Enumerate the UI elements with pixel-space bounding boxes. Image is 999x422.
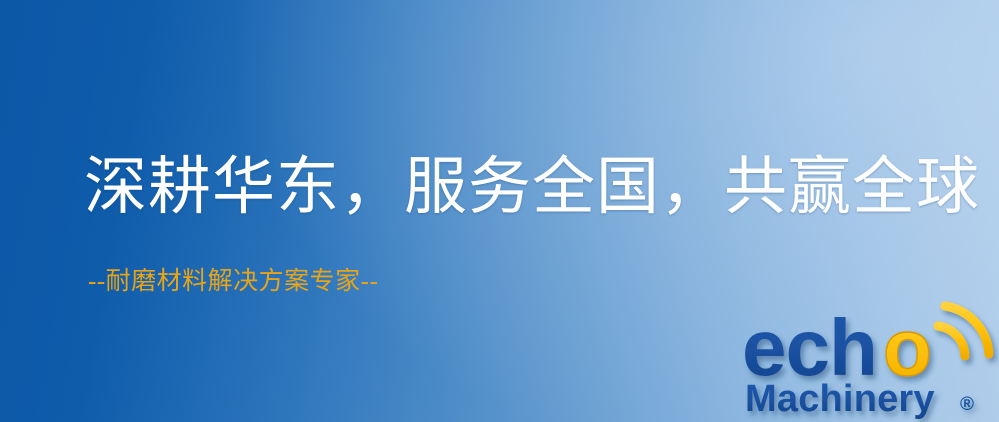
page-title: 深耕华东，服务全国，共赢全球 — [84, 151, 980, 223]
logo-trademark: ® — [960, 394, 974, 415]
page-subtitle: --耐磨材料解决方案专家-- — [88, 267, 378, 297]
company-logo[interactable]: ech o Machinery ® — [742, 296, 999, 422]
logo-brand-secondary: Machinery — [745, 378, 935, 420]
sound-wave-icon — [938, 306, 989, 356]
hero-banner: 深耕华东，服务全国，共赢全球 --耐磨材料解决方案专家-- — [0, 0, 999, 422]
